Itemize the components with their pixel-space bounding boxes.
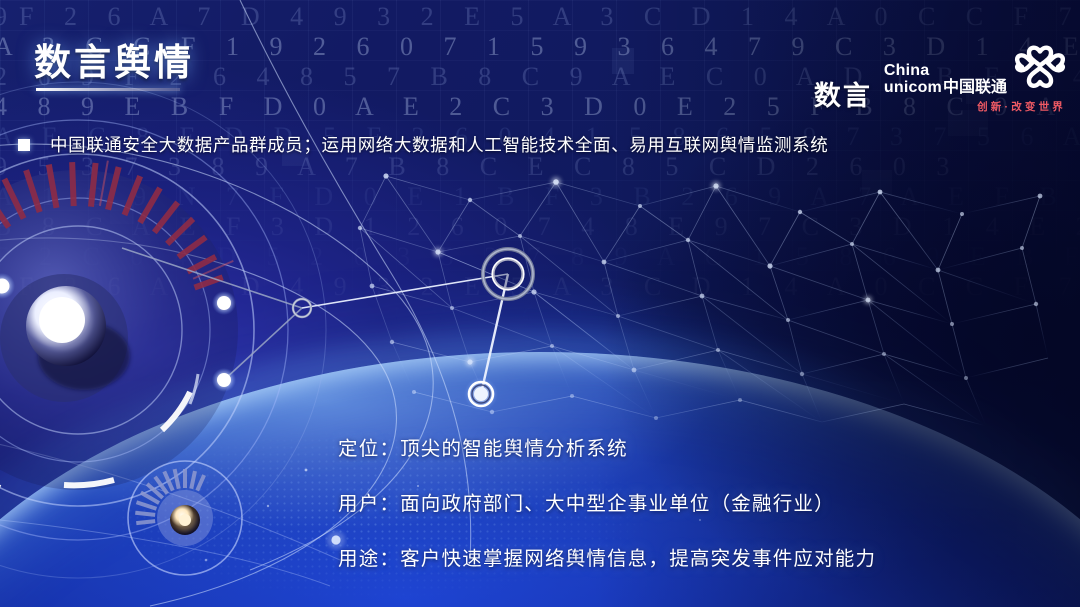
product-logo-text: 数言 — [814, 83, 872, 110]
page-title: 数言舆情 — [34, 32, 194, 86]
unicom-en-line2: unicom — [884, 80, 942, 96]
unicom-wordmark: China unicom 中国联通 — [884, 63, 1007, 96]
unicom-logo-row: China unicom 中国联通 — [884, 44, 1066, 96]
title-underline — [36, 88, 180, 91]
slide-canvas: 9F 2 6 A 7 D 4 9 3 2 E 5 A 3 C D 1 4 A 0… — [0, 0, 1080, 607]
info-list: 定位：顶尖的智能舆情分析系统 用户：面向政府部门、大中型企事业单位（金融行业） … — [338, 432, 876, 571]
ring-node-glow — [464, 377, 498, 411]
summary-bullet-text: 中国联通安全大数据产品群成员；运用网络大数据和人工智能技术全面、易用互联网舆情监… — [50, 132, 828, 157]
small-ring-dial — [128, 461, 242, 575]
network-node-mesh — [358, 173, 1048, 426]
brand-lockup: 数言 China unicom 中国联通 — [814, 44, 1066, 114]
china-unicom-logo: China unicom 中国联通 — [884, 44, 1066, 114]
china-unicom-knot-icon — [1014, 44, 1066, 95]
unicom-zh-name: 中国联通 — [943, 80, 1007, 96]
info-line-users: 用户：面向政府部门、大中型企事业单位（金融行业） — [338, 487, 876, 516]
unicom-tagline: 创新·改变世界 — [977, 99, 1066, 114]
summary-bullet: 中国联通安全大数据产品群成员；运用网络大数据和人工智能技术全面、易用互联网舆情监… — [18, 132, 828, 157]
info-line-purpose: 用途：客户快速掌握网络舆情信息，提高突发事件应对能力 — [338, 542, 876, 571]
square-bullet-icon — [18, 139, 30, 151]
unicom-en-line1: China — [884, 63, 1007, 79]
info-line-positioning: 定位：顶尖的智能舆情分析系统 — [338, 432, 876, 461]
